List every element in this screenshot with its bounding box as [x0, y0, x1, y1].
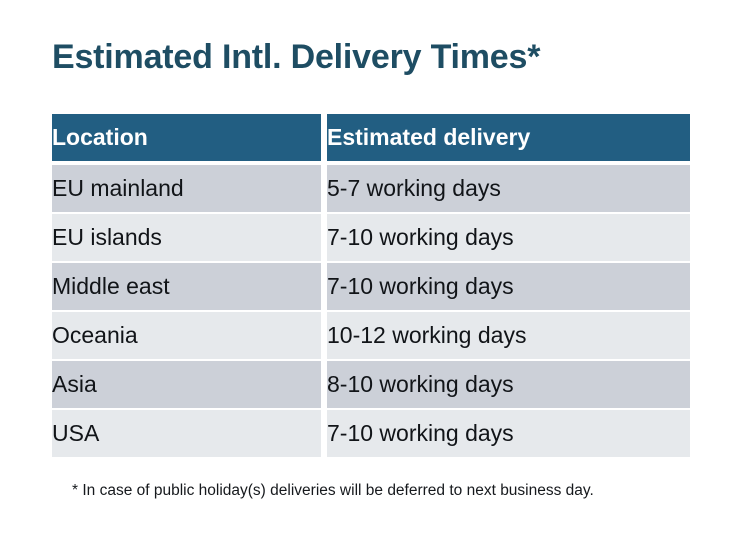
cell-delivery: 7-10 working days — [327, 263, 690, 310]
table-header-row: Location Estimated delivery — [52, 114, 690, 161]
footnote: * In case of public holiday(s) deliverie… — [72, 482, 594, 500]
cell-delivery: 8-10 working days — [327, 361, 690, 408]
table-row: Asia 8-10 working days — [52, 361, 690, 408]
cell-delivery: 7-10 working days — [327, 214, 690, 261]
table-body: EU mainland 5-7 working days EU islands … — [52, 165, 690, 457]
table-header: Location Estimated delivery — [52, 114, 690, 165]
cell-delivery: 10-12 working days — [327, 312, 690, 359]
cell-location: Oceania — [52, 312, 321, 359]
cell-delivery: 5-7 working days — [327, 165, 690, 212]
column-header-location: Location — [52, 114, 321, 161]
cell-delivery: 7-10 working days — [327, 410, 690, 457]
cell-location: EU mainland — [52, 165, 321, 212]
cell-location: Asia — [52, 361, 321, 408]
table-row: Oceania 10-12 working days — [52, 312, 690, 359]
estimated-delivery-times-table: Location Estimated delivery EU mainland … — [52, 114, 690, 457]
cell-location: Middle east — [52, 263, 321, 310]
column-header-estimated-delivery: Estimated delivery — [327, 114, 690, 161]
table-row: EU mainland 5-7 working days — [52, 165, 690, 212]
cell-location: EU islands — [52, 214, 321, 261]
table-row: Middle east 7-10 working days — [52, 263, 690, 310]
table-row: EU islands 7-10 working days — [52, 214, 690, 261]
delivery-times-page: Estimated Intl. Delivery Times* Location… — [0, 0, 745, 536]
cell-location: USA — [52, 410, 321, 457]
table-row: USA 7-10 working days — [52, 410, 690, 457]
page-title: Estimated Intl. Delivery Times* — [52, 38, 540, 77]
